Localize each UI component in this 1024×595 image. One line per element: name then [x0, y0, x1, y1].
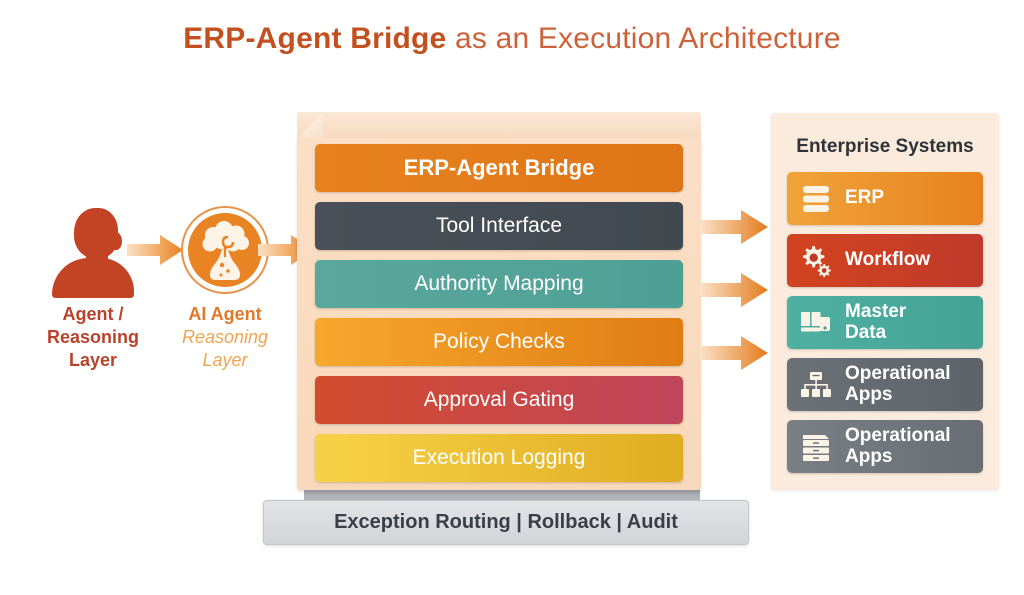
erp-agent-bridge-stack: ERP-Agent Bridge Tool Interface Authorit…: [297, 112, 701, 490]
diagram-canvas: ERP-Agent Bridge as an Execution Archite…: [0, 0, 1024, 595]
stack-layer-label: Tool Interface: [436, 214, 562, 238]
stack-layer-tool-interface[interactable]: Tool Interface: [315, 202, 683, 250]
ai-label-line1: AI Agent: [150, 303, 300, 326]
ai-label-line2: Reasoning: [150, 326, 300, 349]
agent-label-line1: Agent /: [63, 304, 124, 324]
system-item-label: OperationalApps: [845, 364, 951, 404]
stack-layer-authority-mapping[interactable]: Authority Mapping: [315, 260, 683, 308]
stack-layer-approval-gating[interactable]: Approval Gating: [315, 376, 683, 424]
arrow-bridge-to-master-data: [700, 335, 768, 371]
system-item-label: OperationalApps: [845, 426, 951, 466]
database-icon: [787, 183, 845, 215]
stack-layer-label: Policy Checks: [433, 330, 565, 354]
system-item-master-data[interactable]: MasterData: [787, 296, 983, 349]
system-item-label: Workflow: [845, 250, 930, 270]
person-body: [52, 258, 134, 298]
title-bold-part: ERP-Agent Bridge: [183, 22, 446, 55]
arrow-bridge-to-erp: [700, 209, 768, 245]
stack-layer-policy-checks[interactable]: Policy Checks: [315, 318, 683, 366]
org-chart-icon: [787, 370, 845, 400]
stack-box-top: [297, 112, 701, 140]
arrow-person-to-agent: [127, 234, 183, 266]
enterprise-systems-panel: Enterprise Systems ERP: [771, 113, 999, 490]
agent-reasoning-layer-label: Agent / Reasoning Layer: [18, 303, 168, 372]
arrow-bridge-to-workflow: [700, 272, 768, 308]
stack-layer-list: ERP-Agent Bridge Tool Interface Authorit…: [315, 144, 683, 482]
agent-label-line2: Reasoning: [47, 327, 139, 347]
ai-agent-reasoning-layer-label: AI Agent Reasoning Layer: [150, 303, 300, 372]
system-item-operational-apps-1[interactable]: OperationalApps: [787, 358, 983, 411]
system-item-label: ERP: [845, 188, 884, 208]
person-nose: [110, 232, 122, 250]
stack-layer-label: Execution Logging: [413, 446, 586, 470]
stack-box-bevel: [297, 112, 323, 140]
system-item-workflow[interactable]: Workflow: [787, 234, 983, 287]
stack-layer-label: Authority Mapping: [414, 272, 583, 296]
stack-layer-label: ERP-Agent Bridge: [404, 155, 595, 181]
server-stack-icon: [787, 432, 845, 462]
system-item-erp[interactable]: ERP: [787, 172, 983, 225]
agent-label-line3: Layer: [69, 350, 117, 370]
ai-label-line3: Layer: [150, 349, 300, 372]
enterprise-systems-title: Enterprise Systems: [771, 136, 999, 158]
gears-icon: [787, 244, 845, 278]
stack-layer-execution-logging[interactable]: Execution Logging: [315, 434, 683, 482]
enterprise-systems-list: ERP Workflow: [787, 172, 983, 473]
exception-routing-bar[interactable]: Exception Routing | Rollback | Audit: [263, 500, 749, 545]
person-silhouette-icon: [52, 208, 138, 296]
master-data-icon: [787, 308, 845, 338]
brain-icon: [181, 206, 269, 294]
title-light-part: as an Execution Architecture: [446, 22, 840, 55]
system-item-operational-apps-2[interactable]: OperationalApps: [787, 420, 983, 473]
stack-layer-label: Approval Gating: [424, 388, 575, 412]
stack-layer-erp-agent-bridge[interactable]: ERP-Agent Bridge: [315, 144, 683, 192]
system-item-label: MasterData: [845, 302, 906, 342]
exception-routing-label: Exception Routing | Rollback | Audit: [334, 511, 678, 534]
brain-glyph: [188, 213, 262, 287]
page-title: ERP-Agent Bridge as an Execution Archite…: [0, 22, 1024, 56]
